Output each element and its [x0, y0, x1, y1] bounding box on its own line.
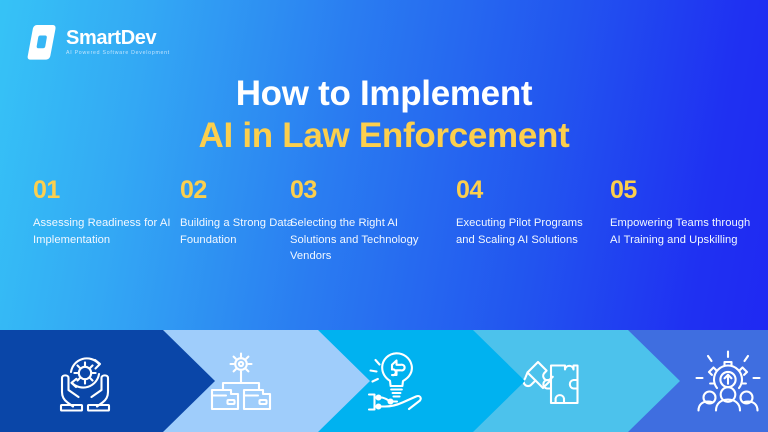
- brand-name: SmartDev: [66, 28, 170, 48]
- chevron-icon-band: [0, 330, 768, 432]
- step-item-01: 01 Assessing Readiness for AI Implementa…: [33, 178, 173, 248]
- brand-logo: SmartDev AI Powered Software Development: [27, 22, 170, 62]
- smartdev-d-logomark-icon: [27, 22, 57, 62]
- infographic-canvas: SmartDev AI Powered Software Development…: [0, 0, 768, 432]
- step-label: Assessing Readiness for AI Implementatio…: [33, 215, 173, 248]
- gear-database-network-icon: [206, 349, 276, 413]
- step-number: 03: [290, 178, 440, 203]
- step-number: 01: [33, 178, 173, 203]
- steps-list: 01 Assessing Readiness for AI Implementa…: [0, 178, 768, 288]
- step-label: Empowering Teams through AI Training and…: [610, 215, 760, 248]
- page-title-line-2: AI in Law Enforcement: [0, 116, 768, 157]
- step-label: Executing Pilot Programs and Scaling AI …: [456, 215, 596, 248]
- step-item-05: 05 Empowering Teams through AI Training …: [610, 178, 760, 248]
- puzzle-pieces-icon: [517, 350, 585, 412]
- step-number: 04: [456, 178, 596, 203]
- brand-logo-text: SmartDev AI Powered Software Development: [66, 28, 170, 56]
- step-item-03: 03 Selecting the Right AI Solutions and …: [290, 178, 440, 265]
- step-item-02: 02 Building a Strong Data Foundation: [180, 178, 298, 248]
- step-label: Building a Strong Data Foundation: [180, 215, 298, 248]
- step-label: Selecting the Right AI Solutions and Tec…: [290, 215, 440, 265]
- step-number: 05: [610, 178, 760, 203]
- page-title-line-1: How to Implement: [0, 74, 768, 115]
- brand-tagline: AI Powered Software Development: [66, 51, 170, 56]
- step-item-04: 04 Executing Pilot Programs and Scaling …: [456, 178, 596, 248]
- page-title: How to Implement AI in Law Enforcement: [0, 74, 768, 156]
- step-number: 02: [180, 178, 298, 203]
- hands-holding-gear-icon: [49, 348, 123, 414]
- team-gear-arrow-icon: [689, 348, 767, 414]
